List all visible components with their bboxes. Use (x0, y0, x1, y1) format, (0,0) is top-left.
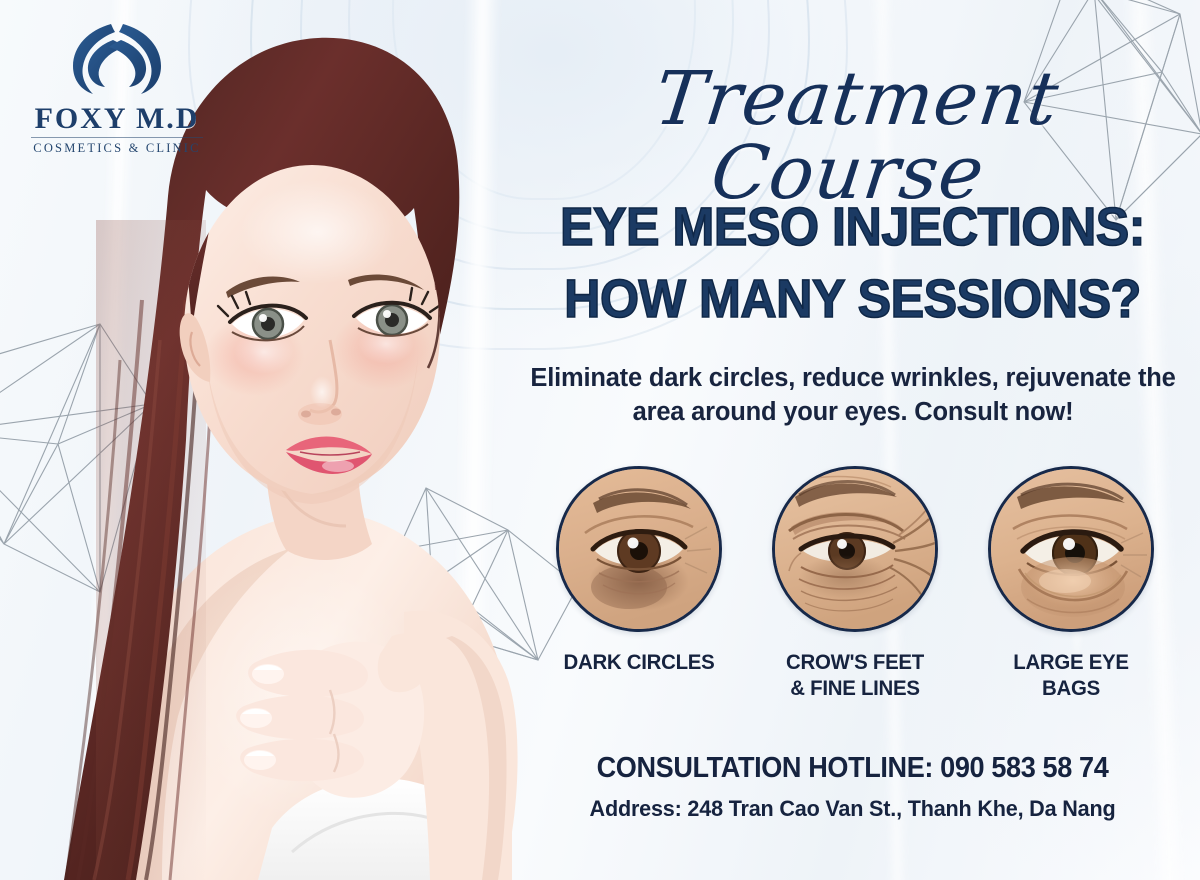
logo-divider (31, 137, 203, 138)
brand-name: FOXY M.D (22, 104, 212, 134)
brand-tagline: COSMETICS & CLINIC (22, 141, 212, 156)
eyebrow-script-title: Treatment Course (496, 62, 1200, 210)
concerns-list: DARK CIRCLES (549, 466, 1161, 701)
address-text: Address: 248 Tran Cao Van St., Thanh Khe… (519, 796, 1186, 822)
concern-card-eye-bags: LARGE EYE BAGS (981, 466, 1161, 701)
eye-photo-dark-circles (556, 466, 722, 632)
concern-card-dark-circles: DARK CIRCLES (549, 466, 729, 675)
contact-block: CONSULTATION HOTLINE: 090 583 58 74 Addr… (505, 752, 1200, 822)
concern-card-crows-feet: CROW'S FEET & FINE LINES (765, 466, 945, 701)
concern-label: CROW'S FEET & FINE LINES (770, 649, 941, 701)
concern-label-line1: CROW'S FEET (786, 650, 924, 674)
content-column: Treatment Course EYE MESO INJECTIONS: HO… (505, 0, 1200, 880)
brand-logo: FOXY M.D COSMETICS & CLINIC (22, 18, 212, 156)
page-title-line1: EYE MESO INJECTIONS: (529, 200, 1175, 256)
concern-label: DARK CIRCLES (554, 649, 725, 675)
hotline-text: CONSULTATION HOTLINE: 090 583 58 74 (522, 752, 1182, 785)
foxy-swoosh-mark-icon (63, 18, 171, 100)
concern-label-line2: & FINE LINES (790, 676, 919, 700)
eye-photo-crows-feet (772, 466, 938, 632)
poster-canvas: FOXY M.D COSMETICS & CLINIC Treatment Co… (0, 0, 1200, 880)
subheadline: Eliminate dark circles, reduce wrinkles,… (523, 362, 1183, 430)
concern-label: LARGE EYE BAGS (986, 649, 1157, 701)
eye-photo-large-eye-bags (988, 466, 1154, 632)
page-title-line2: HOW MANY SESSIONS? (529, 272, 1175, 328)
